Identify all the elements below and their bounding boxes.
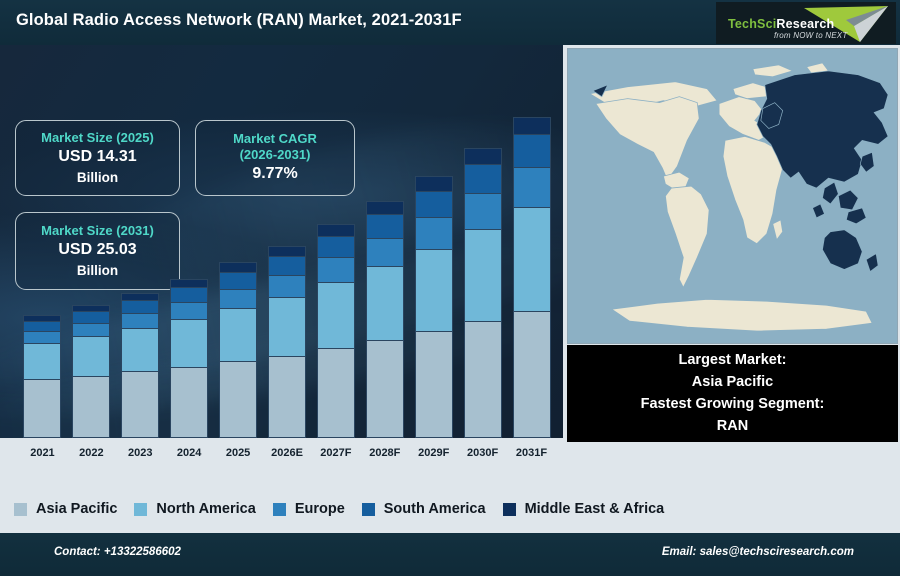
x-axis-strip [0,438,563,485]
bar-segment-europe [23,331,61,343]
legend-swatch-icon [134,503,147,516]
bar-segment-middle-east-africa [513,117,551,135]
bar-segment-north-america [219,308,257,361]
page-title: Global Radio Access Network (RAN) Market… [16,11,462,30]
bar-segment-north-america [268,297,306,356]
legend-label: Asia Pacific [36,501,117,517]
chart-panel: Market Size (2025) USD 14.31 Billion Mar… [0,45,563,485]
bar-segment-south-america [219,272,257,289]
world-map-svg [568,49,897,343]
bar-segment-middle-east-africa [170,279,208,287]
bar-segment-south-america [23,321,61,332]
x-axis-label-2031F: 2031F [502,447,562,459]
callout-line-4: RAN [717,416,748,437]
bar-segment-asia-pacific [121,371,159,438]
bar-2021 [23,315,61,438]
bar-2027F [317,224,355,438]
bar-segment-europe [121,313,159,328]
bar-segment-north-america [513,207,551,311]
bar-segment-south-america [268,256,306,275]
logo-text-research: Research [776,17,834,31]
bar-segment-middle-east-africa [317,224,355,236]
world-map [567,48,898,344]
bar-segment-south-america [72,311,110,323]
bar-segment-north-america [72,336,110,375]
logo-tagline: from NOW to NEXT [774,31,847,40]
bar-segment-europe [464,193,502,229]
bar-segment-asia-pacific [23,379,61,438]
bar-2028F [366,201,404,438]
bar-segment-north-america [170,319,208,367]
bar-segment-north-america [317,282,355,348]
header-bar: Global Radio Access Network (RAN) Market… [0,0,900,45]
bar-segment-middle-east-africa [415,176,453,190]
bar-segment-europe [268,275,306,297]
bar-segment-north-america [121,328,159,371]
chart-legend: Asia PacificNorth AmericaEuropeSouth Ame… [0,485,900,533]
bar-segment-south-america [415,191,453,217]
techsci-logo: TechSciResearch from NOW to NEXT [716,2,896,44]
footer-email: Email: sales@techsciresearch.com [662,546,854,558]
bar-segment-south-america [513,134,551,167]
legend-label: South America [384,501,486,517]
logo-text-techsci: TechSci [728,17,776,31]
callout-box: Largest Market: Asia Pacific Fastest Gro… [567,345,898,442]
legend-swatch-icon [273,503,286,516]
legend-swatch-icon [362,503,375,516]
bar-segment-south-america [366,214,404,238]
bar-segment-asia-pacific [170,367,208,438]
bar-segment-south-america [170,287,208,302]
bar-segment-asia-pacific [415,331,453,438]
bar-2022 [72,305,110,438]
legend-swatch-icon [503,503,516,516]
legend-item-south-america[interactable]: South America [362,501,486,517]
legend-item-asia-pacific[interactable]: Asia Pacific [14,501,117,517]
stacked-bar-chart [0,45,563,485]
bar-2031F [513,117,551,438]
bar-segment-middle-east-africa [464,148,502,164]
bar-2023 [121,293,159,438]
bar-segment-europe [170,302,208,319]
bar-segment-europe [366,238,404,266]
bar-segment-north-america [23,343,61,379]
legend-label: Middle East & Africa [525,501,665,517]
bar-segment-asia-pacific [464,321,502,438]
bar-segment-europe [72,323,110,336]
bar-segment-north-america [464,229,502,322]
legend-item-middle-east-africa[interactable]: Middle East & Africa [503,501,665,517]
bar-segment-north-america [415,249,453,332]
bar-segment-asia-pacific [72,376,110,439]
callout-line-2: Asia Pacific [692,372,773,393]
footer-bar: Contact: +13322586602 Email: sales@techs… [0,533,900,576]
bar-segment-south-america [121,300,159,313]
bar-segment-europe [219,289,257,308]
bar-2026E [268,246,306,439]
legend-item-north-america[interactable]: North America [134,501,255,517]
legend-label: Europe [295,501,345,517]
bar-segment-asia-pacific [268,356,306,439]
bar-segment-middle-east-africa [268,246,306,257]
bar-segment-south-america [464,164,502,193]
bar-2030F [464,148,502,438]
bar-segment-asia-pacific [317,348,355,438]
bar-2025 [219,262,257,438]
legend-swatch-icon [14,503,27,516]
bar-segment-asia-pacific [366,340,404,438]
callout-line-3: Fastest Growing Segment: [641,394,825,415]
legend-item-europe[interactable]: Europe [273,501,345,517]
bar-segment-europe [317,257,355,282]
bar-segment-middle-east-africa [366,201,404,214]
bar-2024 [170,279,208,438]
callout-line-1: Largest Market: [679,350,787,371]
bar-2029F [415,176,453,438]
legend-label: North America [156,501,255,517]
footer-contact: Contact: +13322586602 [54,546,181,558]
bar-segment-middle-east-africa [121,293,159,300]
bar-segment-asia-pacific [219,361,257,438]
logo-wordmark: TechSciResearch [728,17,834,31]
bar-segment-south-america [317,236,355,257]
bar-segment-asia-pacific [513,311,551,439]
bar-segment-europe [415,217,453,249]
infographic-root: Global Radio Access Network (RAN) Market… [0,0,900,576]
bar-segment-middle-east-africa [219,262,257,271]
bar-segment-north-america [366,266,404,340]
bar-segment-europe [513,167,551,207]
